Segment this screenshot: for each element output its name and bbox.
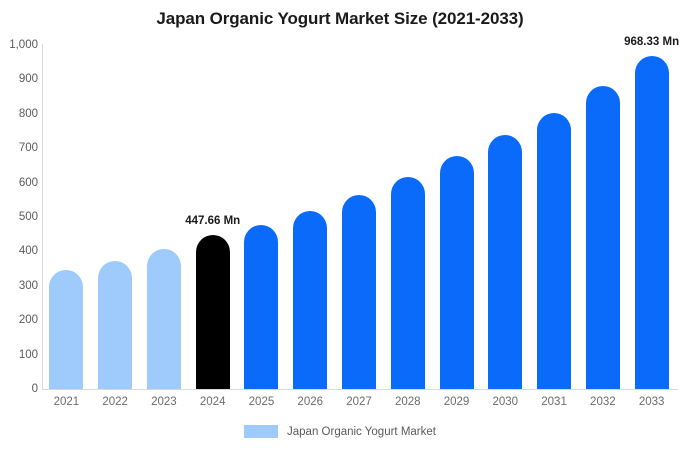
x-axis-tick-label-2029: 2029 xyxy=(444,396,470,408)
y-axis-tick-label: 100 xyxy=(0,349,38,361)
x-axis-tick-label-2033: 2033 xyxy=(639,396,665,408)
x-axis-tick-label-2024: 2024 xyxy=(200,396,226,408)
x-axis-line xyxy=(42,389,678,390)
bar-2025[interactable] xyxy=(244,225,278,389)
bar-2033[interactable] xyxy=(635,56,669,389)
chart-title: Japan Organic Yogurt Market Size (2021-2… xyxy=(0,9,680,29)
chart-container: Japan Organic Yogurt Market Size (2021-2… xyxy=(0,0,680,450)
x-axis-tick-label-2030: 2030 xyxy=(493,396,519,408)
bar-2030[interactable] xyxy=(488,135,522,389)
y-axis-tick-label: 700 xyxy=(0,142,38,154)
legend-item[interactable]: Japan Organic Yogurt Market xyxy=(244,425,436,438)
bar-2029[interactable] xyxy=(440,156,474,389)
y-axis-tick-label: 600 xyxy=(0,177,38,189)
bar-2027[interactable] xyxy=(342,195,376,389)
y-axis-tick-label: 900 xyxy=(0,73,38,85)
bar-value-label-2024: 447.66 Mn xyxy=(185,215,240,227)
bar-2028[interactable] xyxy=(391,177,425,389)
bar-2024[interactable] xyxy=(196,235,230,389)
bar-2023[interactable] xyxy=(147,249,181,389)
bar-2032[interactable] xyxy=(586,86,620,389)
bar-value-label-2033: 968.33 Mn xyxy=(624,36,679,48)
y-axis-tick-label: 300 xyxy=(0,280,38,292)
x-axis-tick-label-2022: 2022 xyxy=(102,396,128,408)
legend-label: Japan Organic Yogurt Market xyxy=(287,426,436,438)
y-axis-tick-label: 800 xyxy=(0,108,38,120)
y-axis-tick-label: 500 xyxy=(0,211,38,223)
x-axis-tick-label-2031: 2031 xyxy=(541,396,567,408)
x-axis-tick-label-2032: 2032 xyxy=(590,396,616,408)
x-axis-tick-label-2021: 2021 xyxy=(54,396,80,408)
x-axis-tick-label-2023: 2023 xyxy=(151,396,177,408)
y-axis-tick-label: 1,000 xyxy=(0,39,38,51)
x-axis-tick-label-2027: 2027 xyxy=(346,396,372,408)
chart-legend: Japan Organic Yogurt Market xyxy=(0,425,680,438)
plot-area: 447.66 Mn968.33 Mn xyxy=(42,45,676,389)
bar-2026[interactable] xyxy=(293,211,327,389)
bar-2031[interactable] xyxy=(537,113,571,389)
y-axis-tick-label: 0 xyxy=(0,383,38,395)
x-axis-tick-label-2026: 2026 xyxy=(297,396,323,408)
bar-2021[interactable] xyxy=(49,270,83,389)
y-axis: 01002003004005006007008009001,000 xyxy=(0,0,38,450)
y-axis-tick-label: 200 xyxy=(0,314,38,326)
legend-swatch-icon xyxy=(244,425,278,438)
y-axis-tick-label: 400 xyxy=(0,245,38,257)
x-axis-tick-label-2028: 2028 xyxy=(395,396,421,408)
bar-2022[interactable] xyxy=(98,261,132,389)
x-axis-tick-label-2025: 2025 xyxy=(249,396,275,408)
